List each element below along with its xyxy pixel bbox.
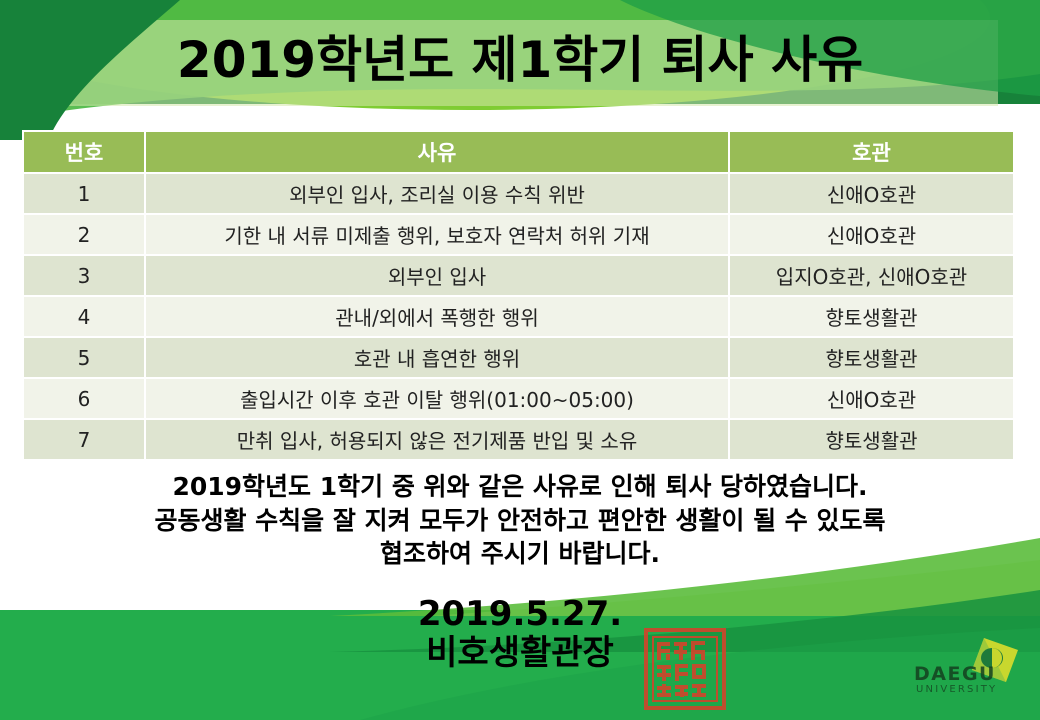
cell-reason: 관내/외에서 폭행한 행위 <box>145 296 729 337</box>
cell-no: 3 <box>23 255 145 296</box>
seal-stamp-icon <box>644 628 726 710</box>
column-header-hall: 호관 <box>729 131 1014 173</box>
cell-no: 1 <box>23 173 145 214</box>
cell-hall: 신애O호관 <box>729 173 1014 214</box>
cell-hall: 향토생활관 <box>729 296 1014 337</box>
notice-date: 2019.5.27. <box>0 596 1040 633</box>
poster-root: 2019학년도 제1학기 퇴사 사유 번호 사유 호관 1 외부인 입사, 조리… <box>0 0 1040 720</box>
daegu-university-logo: DAEGU UNIVERSITY <box>910 636 1026 698</box>
cell-no: 5 <box>23 337 145 378</box>
logo-name: DAEGU <box>914 663 996 685</box>
cell-hall: 입지O호관, 신애O호관 <box>729 255 1014 296</box>
table-row: 6 출입시간 이후 호관 이탈 행위(01:00~05:00) 신애O호관 <box>23 378 1014 419</box>
table-row: 4 관내/외에서 폭행한 행위 향토생활관 <box>23 296 1014 337</box>
column-header-no: 번호 <box>23 131 145 173</box>
reasons-table: 번호 사유 호관 1 외부인 입사, 조리실 이용 수칙 위반 신애O호관 2 … <box>22 130 1015 461</box>
cell-no: 7 <box>23 419 145 460</box>
cell-reason: 만취 입사, 허용되지 않은 전기제품 반입 및 소유 <box>145 419 729 460</box>
title-container: 2019학년도 제1학기 퇴사 사유 <box>0 14 1040 106</box>
cell-reason: 호관 내 흡연한 행위 <box>145 337 729 378</box>
cell-no: 6 <box>23 378 145 419</box>
page-title: 2019학년도 제1학기 퇴사 사유 <box>177 35 863 85</box>
table-row: 3 외부인 입사 입지O호관, 신애O호관 <box>23 255 1014 296</box>
cell-hall: 신애O호관 <box>729 378 1014 419</box>
table-row: 1 외부인 입사, 조리실 이용 수칙 위반 신애O호관 <box>23 173 1014 214</box>
cell-hall: 향토생활관 <box>729 337 1014 378</box>
notice-line-1: 2019학년도 1학기 중 위와 같은 사유로 인해 퇴사 당하였습니다. <box>0 470 1040 504</box>
cell-reason: 외부인 입사 <box>145 255 729 296</box>
table-row: 5 호관 내 흡연한 행위 향토생활관 <box>23 337 1014 378</box>
cell-reason: 기한 내 서류 미제출 행위, 보호자 연락처 허위 기재 <box>145 214 729 255</box>
cell-reason: 외부인 입사, 조리실 이용 수칙 위반 <box>145 173 729 214</box>
table-header-row: 번호 사유 호관 <box>23 131 1014 173</box>
signature-block: 2019.5.27. 비호생활관장 <box>0 596 1040 673</box>
table-row: 7 만취 입사, 허용되지 않은 전기제품 반입 및 소유 향토생활관 <box>23 419 1014 460</box>
table-row: 2 기한 내 서류 미제출 행위, 보호자 연락처 허위 기재 신애O호관 <box>23 214 1014 255</box>
notice-line-2: 공동생활 수칙을 잘 지켜 모두가 안전하고 편안한 생활이 될 수 있도록 <box>0 504 1040 538</box>
cell-hall: 향토생활관 <box>729 419 1014 460</box>
notice-line-3: 협조하여 주시기 바랍니다. <box>0 537 1040 571</box>
cell-no: 2 <box>23 214 145 255</box>
notice-signer: 비호생활관장 <box>0 635 1040 672</box>
cell-no: 4 <box>23 296 145 337</box>
cell-reason: 출입시간 이후 호관 이탈 행위(01:00~05:00) <box>145 378 729 419</box>
cell-hall: 신애O호관 <box>729 214 1014 255</box>
notice-paragraph: 2019학년도 1학기 중 위와 같은 사유로 인해 퇴사 당하였습니다. 공동… <box>0 470 1040 571</box>
logo-sub: UNIVERSITY <box>916 684 997 695</box>
column-header-reason: 사유 <box>145 131 729 173</box>
